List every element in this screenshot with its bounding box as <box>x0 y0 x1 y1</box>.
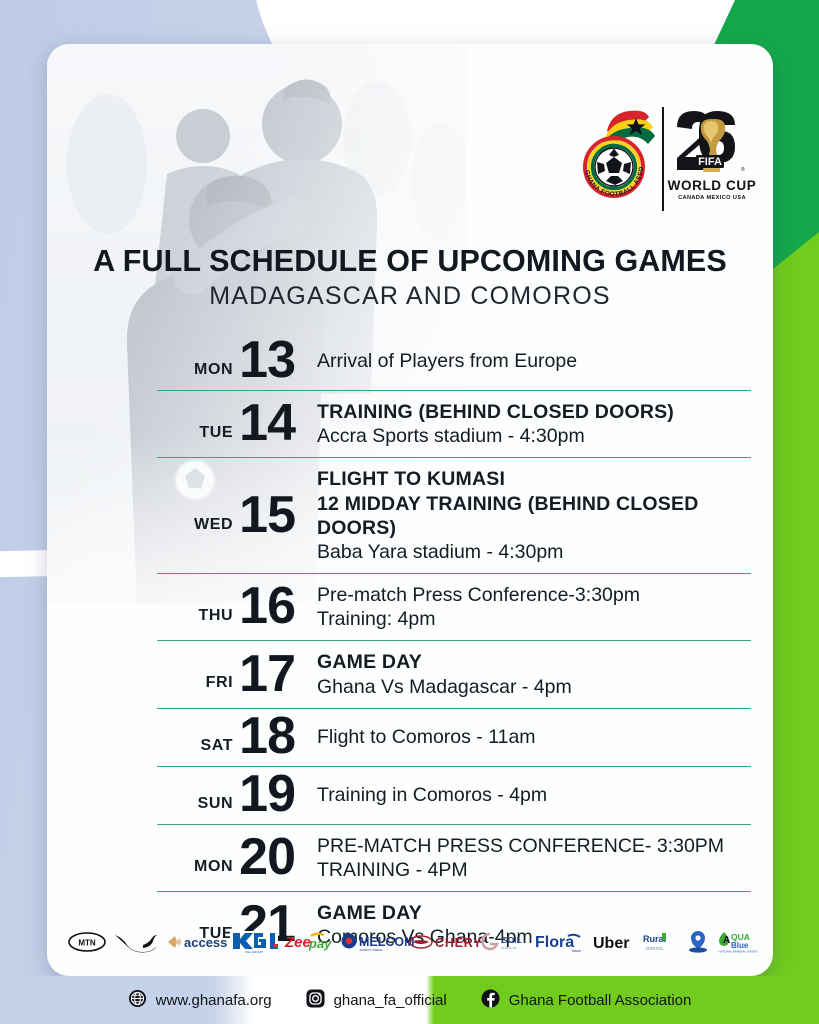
svg-text:NATURAL MINERAL WATER: NATURAL MINERAL WATER <box>718 950 758 954</box>
schedule-row: MON20PRE-MATCH PRESS CONFERENCE- 3:30PMT… <box>157 824 751 891</box>
svg-text:GHANA OIL: GHANA OIL <box>501 946 518 950</box>
title-block: A FULL SCHEDULE OF UPCOMING GAMES MADAGA… <box>47 244 773 311</box>
poster-root: GHANA FOOTBALL ASSOCIATION <box>0 0 819 1024</box>
day-of-week: SUN <box>198 795 234 819</box>
schedule-date: MON13 <box>157 337 317 385</box>
schedule-detail: Pre-match Press Conference-3:30pmTrainin… <box>317 574 751 640</box>
melcom-logo: MELCOM ALWAYS THERE <box>341 931 403 953</box>
instagram-icon <box>306 989 325 1012</box>
svg-text:®: ® <box>741 166 745 173</box>
schedule-date: THU16 <box>157 583 317 631</box>
day-number: 14 <box>239 400 295 448</box>
svg-text:KGL GROUP: KGL GROUP <box>245 950 263 954</box>
logo-group: GHANA FOOTBALL ASSOCIATION <box>581 99 751 219</box>
access-bank-logo: access <box>166 931 224 953</box>
day-number: 18 <box>239 713 295 761</box>
day-number: 20 <box>239 834 295 882</box>
day-of-week: MON <box>194 858 233 882</box>
day-number: 13 <box>239 337 295 385</box>
facebook-label: Ghana Football Association <box>509 992 692 1009</box>
schedule-detail-line: PRE-MATCH PRESS CONFERENCE- 3:30PM <box>317 834 751 858</box>
schedule-row: MON13Arrival of Players from Europe <box>157 332 751 390</box>
schedule-detail-line: Ghana Vs Madagascar - 4pm <box>317 675 751 699</box>
day-of-week: SAT <box>201 737 234 761</box>
schedule-detail: TRAINING (BEHIND CLOSED DOORS)Accra Spor… <box>317 391 751 457</box>
svg-text:access: access <box>184 935 227 950</box>
day-of-week: WED <box>194 516 233 540</box>
schedule-row: THU16Pre-match Press Conference-3:30pmTr… <box>157 573 751 640</box>
schedule-detail-line: 12 MIDDAY TRAINING (BEHIND CLOSED DOORS) <box>317 492 751 540</box>
schedule-detail-line: FLIGHT TO KUMASI <box>317 467 751 491</box>
rural-digital-logo: Rural DIGITAL <box>642 931 678 953</box>
mtn-logo: MTN <box>67 931 107 953</box>
schedule-card: GHANA FOOTBALL ASSOCIATION <box>47 44 773 976</box>
svg-text:GOIL: GOIL <box>501 935 522 945</box>
schedule-date: WED15 <box>157 492 317 540</box>
schedule-detail-line: Pre-match Press Conference-3:30pm <box>317 583 751 607</box>
uber-logo: Uber <box>592 932 636 952</box>
schedule-row: SAT18Flight to Comoros - 11am <box>157 708 751 766</box>
schedule-detail: Training in Comoros - 4pm <box>317 774 751 816</box>
facebook-link[interactable]: Ghana Football Association <box>481 989 692 1012</box>
svg-text:WORLD CUP: WORLD CUP <box>668 178 757 193</box>
instagram-label: ghana_fa_official <box>334 992 447 1009</box>
flora-logo: Flora tissue <box>534 931 586 953</box>
schedule-date: FRI17 <box>157 651 317 699</box>
svg-text:CANADA MEXICO USA: CANADA MEXICO USA <box>678 195 746 201</box>
day-number: 17 <box>239 651 295 699</box>
svg-text:A: A <box>723 935 730 946</box>
globe-icon <box>128 989 147 1012</box>
schedule-detail-line: Accra Sports stadium - 4:30pm <box>317 424 751 448</box>
location-pin-logo <box>685 930 711 954</box>
day-of-week: FRI <box>206 674 234 698</box>
svg-text:Uber: Uber <box>593 935 629 952</box>
aqua-blue-logo: A QUA Blue NATURAL MINERAL WATER <box>717 930 759 954</box>
schedule-date: MON20 <box>157 834 317 882</box>
schedule-detail-line: GAME DAY <box>317 650 751 674</box>
day-of-week: TUE <box>199 424 233 448</box>
svg-text:Zee: Zee <box>284 934 311 951</box>
svg-text:pay: pay <box>308 936 332 951</box>
footer-bar: www.ghanafa.org ghana_fa_official Gh <box>0 976 819 1024</box>
instagram-link[interactable]: ghana_fa_official <box>306 989 447 1012</box>
day-of-week: THU <box>198 607 233 631</box>
schedule-detail: Flight to Comoros - 11am <box>317 716 751 758</box>
schedule-detail-line: Training: 4pm <box>317 607 751 631</box>
ghana-football-association-logo: GHANA FOOTBALL ASSOCIATION <box>581 105 653 214</box>
website-link[interactable]: www.ghanafa.org <box>128 989 272 1012</box>
svg-text:CHERY: CHERY <box>435 936 482 950</box>
day-number: 15 <box>239 492 295 540</box>
svg-text:MELCOM: MELCOM <box>359 935 415 949</box>
page-subtitle: MADAGASCAR AND COMOROS <box>47 282 773 311</box>
schedule-detail-line: TRAINING (BEHIND CLOSED DOORS) <box>317 400 751 424</box>
schedule-detail: Arrival of Players from Europe <box>317 340 751 382</box>
day-number: 19 <box>239 771 295 819</box>
schedule-row: FRI17GAME DAYGhana Vs Madagascar - 4pm <box>157 640 751 707</box>
schedule-detail: FLIGHT TO KUMASI12 MIDDAY TRAINING (BEHI… <box>317 458 751 573</box>
schedule-row: SUN19Training in Comoros - 4pm <box>157 766 751 824</box>
chery-logo: CHERY <box>409 932 473 952</box>
schedule-detail: PRE-MATCH PRESS CONFERENCE- 3:30PMTRAINI… <box>317 825 751 891</box>
svg-text:DIGITAL: DIGITAL <box>646 946 664 951</box>
schedule-date: TUE14 <box>157 400 317 448</box>
schedule-detail-line: Flight to Comoros - 11am <box>317 725 751 749</box>
day-number: 16 <box>239 583 295 631</box>
website-label: www.ghanafa.org <box>156 992 272 1009</box>
svg-text:FIFA: FIFA <box>698 156 722 168</box>
goil-logo: GOIL GHANA OIL <box>479 931 527 953</box>
schedule-detail-line: Baba Yara stadium - 4:30pm <box>317 540 751 564</box>
schedule-date: SUN19 <box>157 771 317 819</box>
svg-text:ALWAYS THERE: ALWAYS THERE <box>359 948 382 952</box>
svg-text:MTN: MTN <box>78 939 96 948</box>
puma-logo <box>113 931 159 953</box>
day-of-week: MON <box>194 361 233 385</box>
facebook-icon <box>481 989 500 1012</box>
schedule-date: SAT18 <box>157 713 317 761</box>
zeepay-logo: Zee pay <box>284 931 334 953</box>
sponsor-strip: MTN access <box>67 922 759 962</box>
page-title: A FULL SCHEDULE OF UPCOMING GAMES <box>47 244 773 278</box>
schedule-detail-line: Training in Comoros - 4pm <box>317 783 751 807</box>
logo-divider <box>662 107 664 211</box>
svg-text:tissue: tissue <box>572 949 581 953</box>
schedule-row: TUE14TRAINING (BEHIND CLOSED DOORS)Accra… <box>157 390 751 457</box>
fifa-world-cup-26-logo: FIFA ® WORLD CUP CANADA MEXICO USA <box>673 105 751 214</box>
kgl-logo: KGL GROUP <box>230 930 278 954</box>
schedule-list: MON13Arrival of Players from EuropeTUE14… <box>157 332 751 958</box>
schedule-detail: GAME DAYGhana Vs Madagascar - 4pm <box>317 641 751 707</box>
schedule-detail-line: TRAINING - 4PM <box>317 858 751 882</box>
schedule-detail-line: Arrival of Players from Europe <box>317 349 751 373</box>
schedule-row: WED15FLIGHT TO KUMASI12 MIDDAY TRAINING … <box>157 457 751 573</box>
